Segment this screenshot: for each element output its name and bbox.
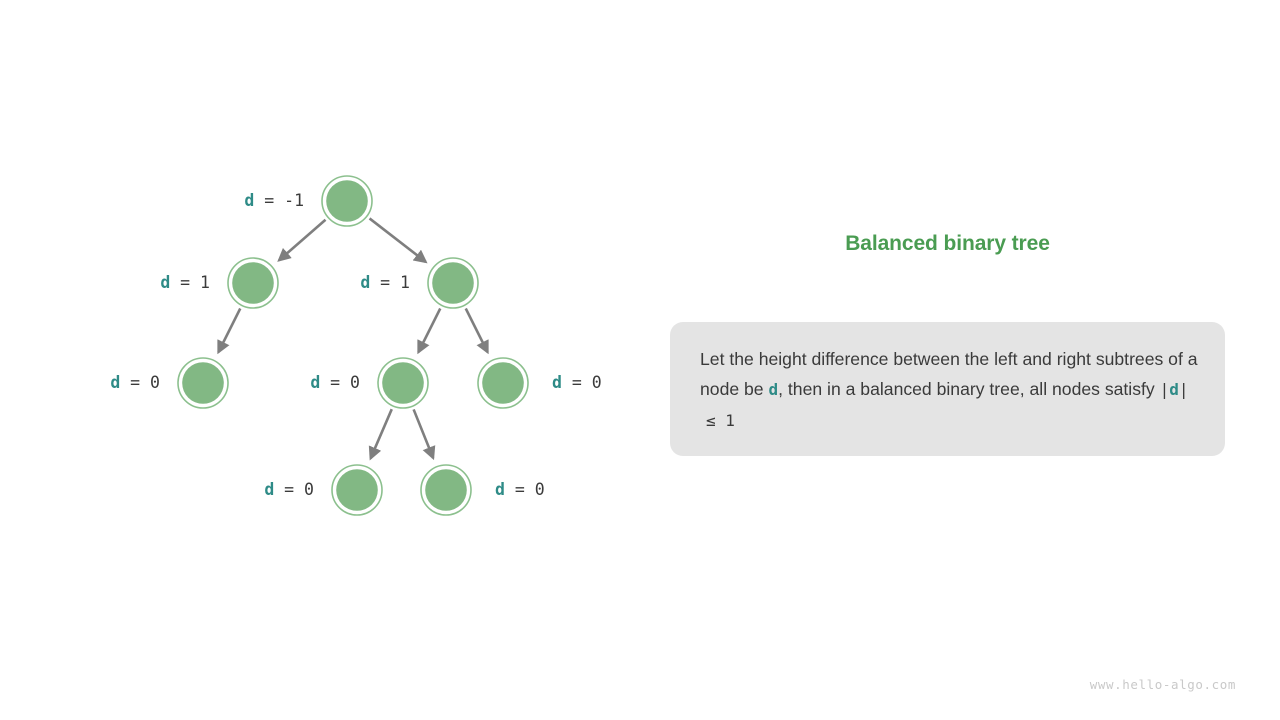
tree-node-n-r[interactable] (428, 258, 478, 308)
label-variable-d: d (264, 480, 274, 499)
label-value: = 0 (120, 373, 160, 392)
label-value: = 0 (274, 480, 314, 499)
node-fill (382, 362, 424, 404)
label-value: = 0 (562, 373, 602, 392)
page-title: Balanced binary tree (660, 232, 1235, 256)
node-height-diff-label-n-r: d = 1 (360, 275, 410, 292)
abs-bar-close: | (1179, 380, 1189, 399)
node-fill (326, 180, 368, 222)
site-watermark: www.hello-algo.com (1090, 677, 1236, 692)
label-variable-d: d (495, 480, 505, 499)
node-fill (482, 362, 524, 404)
node-fill (336, 469, 378, 511)
tree-node-n-rl[interactable] (378, 358, 428, 408)
label-variable-d: d (552, 373, 562, 392)
label-variable-d: d (160, 273, 170, 292)
label-variable-d: d (360, 273, 370, 292)
tree-node-n-rll[interactable] (332, 465, 382, 515)
node-height-diff-label-n-rll: d = 0 (264, 482, 314, 499)
tree-edge-n-r-to-n-rl (418, 308, 440, 352)
tree-nodes (178, 176, 528, 515)
info-callout-box: Let the height difference between the le… (670, 322, 1225, 456)
abs-bar-open: | (1160, 380, 1170, 399)
variable-d-inline-2: d (1169, 380, 1179, 399)
node-height-diff-label-n-l: d = 1 (160, 275, 210, 292)
tree-edge-n-rl-to-n-rll (371, 409, 392, 458)
info-text-part-2: , then in a balanced binary tree, all no… (778, 379, 1155, 399)
node-height-diff-label-n-ll: d = 0 (110, 375, 160, 392)
node-fill (425, 469, 467, 511)
tree-node-n-rlr[interactable] (421, 465, 471, 515)
label-variable-d: d (110, 373, 120, 392)
tree-edges (218, 218, 487, 458)
inequality-relation: ≤ 1 (700, 411, 735, 430)
node-height-diff-label-n-rr: d = 0 (552, 375, 602, 392)
tree-node-root[interactable] (322, 176, 372, 226)
label-value: = 0 (505, 480, 545, 499)
label-value: = 1 (370, 273, 410, 292)
balanced-binary-tree-diagram: d = -1d = 1d = 1d = 0d = 0d = 0d = 0d = … (0, 0, 660, 720)
explanation-panel: Balanced binary tree Let the height diff… (660, 0, 1280, 720)
label-value: = 0 (320, 373, 360, 392)
node-fill (232, 262, 274, 304)
label-value: = -1 (254, 191, 304, 210)
node-height-diff-label-n-rl: d = 0 (310, 375, 360, 392)
tree-graphic (0, 0, 660, 720)
node-fill (432, 262, 474, 304)
variable-d-inline-1: d (769, 380, 779, 399)
tree-edge-n-rl-to-n-rlr (414, 409, 434, 458)
tree-node-n-l[interactable] (228, 258, 278, 308)
node-height-diff-label-root: d = -1 (244, 193, 304, 210)
info-callout-text: Let the height difference between the le… (700, 344, 1201, 436)
label-variable-d: d (310, 373, 320, 392)
node-fill (182, 362, 224, 404)
tree-edge-n-l-to-n-ll (218, 308, 240, 352)
tree-edge-n-r-to-n-rr (466, 308, 488, 352)
label-variable-d: d (244, 191, 254, 210)
node-height-diff-label-n-rlr: d = 0 (495, 482, 545, 499)
tree-edge-root-to-n-r (370, 218, 426, 261)
tree-edge-root-to-n-l (279, 220, 326, 261)
tree-node-n-rr[interactable] (478, 358, 528, 408)
label-value: = 1 (170, 273, 210, 292)
tree-node-n-ll[interactable] (178, 358, 228, 408)
